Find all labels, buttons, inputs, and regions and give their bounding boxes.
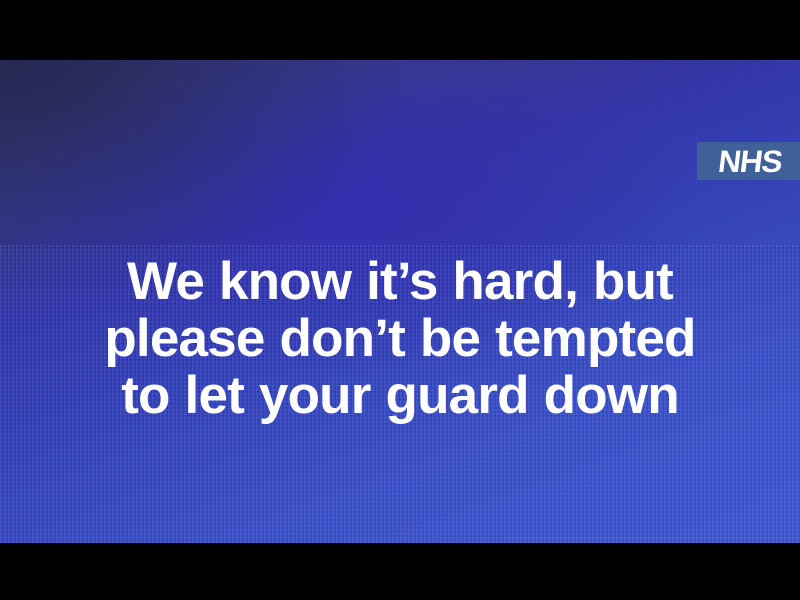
- headline-line-2: please don’t be tempted: [0, 310, 800, 367]
- headline-line-3: to let your guard down: [0, 367, 800, 424]
- poster-canvas: NHS We know it’s hard, but please don’t …: [0, 60, 800, 543]
- letterbox-bar-bottom: [0, 543, 800, 600]
- headline-message: We know it’s hard, but please don’t be t…: [0, 253, 800, 424]
- headline-line-1: We know it’s hard, but: [0, 253, 800, 310]
- video-frame: NHS We know it’s hard, but please don’t …: [0, 0, 800, 600]
- letterbox-bar-top: [0, 0, 800, 60]
- nhs-wordmark-text: NHS: [714, 146, 783, 177]
- nhs-logo: NHS: [697, 142, 800, 180]
